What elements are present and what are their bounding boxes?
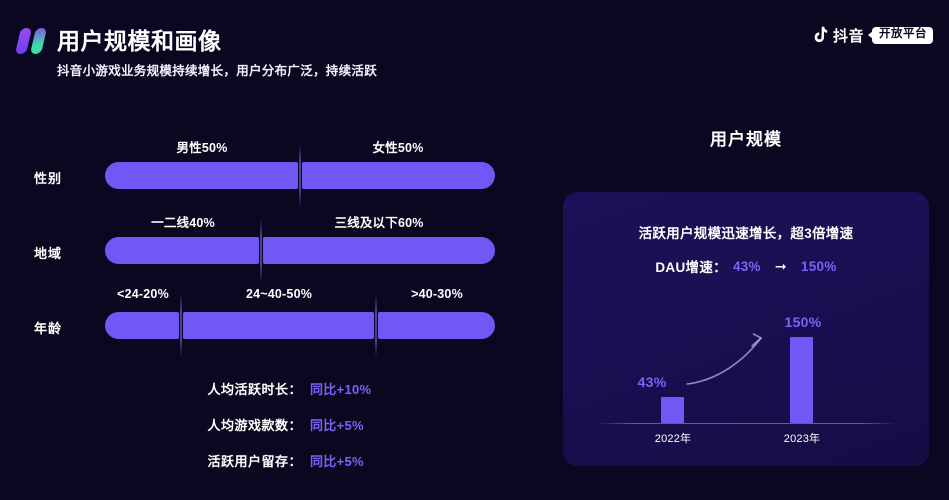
segment-divider bbox=[375, 294, 377, 357]
metric-row: 活跃用户留存： 同比+5% bbox=[0, 450, 540, 470]
brand-blade-purple bbox=[15, 28, 32, 54]
dau-from-value: 43% bbox=[733, 259, 761, 274]
metric-value: 同比+5% bbox=[310, 415, 364, 434]
bar-segment bbox=[263, 237, 495, 264]
demographic-label: 地域 bbox=[34, 243, 94, 262]
slide-root: 用户规模和画像 抖音小游戏业务规模持续增长，用户分布广泛，持续活跃 抖音 开放平… bbox=[0, 0, 949, 500]
segment-caption: >40-30% bbox=[411, 287, 463, 301]
dau-bar-chart: 43% 150% 2022年 2023年 bbox=[597, 302, 897, 452]
music-note-icon bbox=[811, 26, 828, 45]
demographics-section: 性别 男性50% 女性50% 地域 一二线40% 三线及以下60% 年龄 bbox=[0, 130, 540, 360]
demographic-bar-track: <24-20% 24~40-50% >40-30% bbox=[105, 312, 495, 339]
segment-caption: 24~40-50% bbox=[246, 287, 312, 301]
brand-blade-teal bbox=[30, 28, 47, 54]
bar-2023 bbox=[790, 337, 813, 423]
bar-segment bbox=[302, 162, 495, 189]
metric-value: 同比+10% bbox=[310, 379, 371, 398]
demographic-row-age: 年龄 <24-20% 24~40-50% >40-30% bbox=[0, 280, 540, 352]
bar-segment bbox=[105, 237, 259, 264]
segment-caption: 一二线40% bbox=[151, 212, 215, 231]
metric-row: 人均游戏款数： 同比+5% bbox=[0, 414, 540, 434]
demographic-label: 性别 bbox=[34, 168, 94, 187]
user-scale-card: 活跃用户规模迅速增长，超3倍增速 DAU增速： 43% ➞ 150% 43% 1… bbox=[563, 192, 929, 466]
demographic-row-gender: 性别 男性50% 女性50% bbox=[0, 130, 540, 202]
segment-caption: 三线及以下60% bbox=[334, 212, 423, 231]
demographic-bar-track: 一二线40% 三线及以下60% bbox=[105, 237, 495, 264]
slide-header: 用户规模和画像 抖音小游戏业务规模持续增长，用户分布广泛，持续活跃 抖音 开放平… bbox=[0, 0, 949, 92]
user-scale-panel: 用户规模 活跃用户规模迅速增长，超3倍增速 DAU增速： 43% ➞ 150% … bbox=[563, 110, 929, 466]
metric-row: 人均活跃时长： 同比+10% bbox=[0, 378, 540, 398]
dau-to-value: 150% bbox=[801, 259, 837, 274]
bar-segment bbox=[105, 312, 179, 339]
bar-value-2022: 43% bbox=[638, 374, 667, 390]
platform-logo-word: 抖音 bbox=[833, 25, 864, 46]
demographic-label: 年龄 bbox=[34, 318, 94, 337]
brand-blades-icon bbox=[16, 28, 50, 54]
metric-value: 同比+5% bbox=[310, 451, 364, 470]
bar-tick-2023: 2023年 bbox=[784, 430, 820, 446]
segment-caption: 男性50% bbox=[176, 137, 227, 156]
metric-name: 人均活跃时长： bbox=[207, 379, 302, 398]
metric-name: 人均游戏款数： bbox=[207, 415, 302, 434]
metric-name: 活跃用户留存： bbox=[207, 451, 302, 470]
arrow-right-icon: ➞ bbox=[775, 259, 787, 273]
page-subtitle: 抖音小游戏业务规模持续增长，用户分布广泛，持续活跃 bbox=[57, 60, 377, 79]
segment-divider bbox=[299, 144, 301, 207]
growth-arrow-icon bbox=[683, 328, 793, 390]
segment-divider bbox=[260, 219, 262, 282]
segment-caption: 女性50% bbox=[372, 137, 423, 156]
platform-logo: 抖音 开放平台 bbox=[811, 24, 933, 46]
bar-segment bbox=[105, 162, 298, 189]
demographic-bar-track: 男性50% 女性50% bbox=[105, 162, 495, 189]
bar-segment bbox=[183, 312, 374, 339]
bar-tick-2022: 2022年 bbox=[655, 430, 691, 446]
dau-growth-row: DAU增速： 43% ➞ 150% bbox=[563, 256, 929, 276]
card-headline: 活跃用户规模迅速增长，超3倍增速 bbox=[563, 222, 929, 242]
demographic-row-region: 地域 一二线40% 三线及以下60% bbox=[0, 205, 540, 277]
segment-divider bbox=[180, 294, 182, 357]
page-title: 用户规模和画像 bbox=[57, 22, 222, 56]
dau-label: DAU增速： bbox=[655, 256, 727, 276]
panel-title: 用户规模 bbox=[563, 125, 929, 150]
chart-baseline bbox=[597, 423, 897, 424]
bar-segment bbox=[378, 312, 495, 339]
segment-caption: <24-20% bbox=[117, 287, 169, 301]
platform-logo-badge: 开放平台 bbox=[872, 27, 933, 44]
bar-2022 bbox=[661, 397, 684, 423]
